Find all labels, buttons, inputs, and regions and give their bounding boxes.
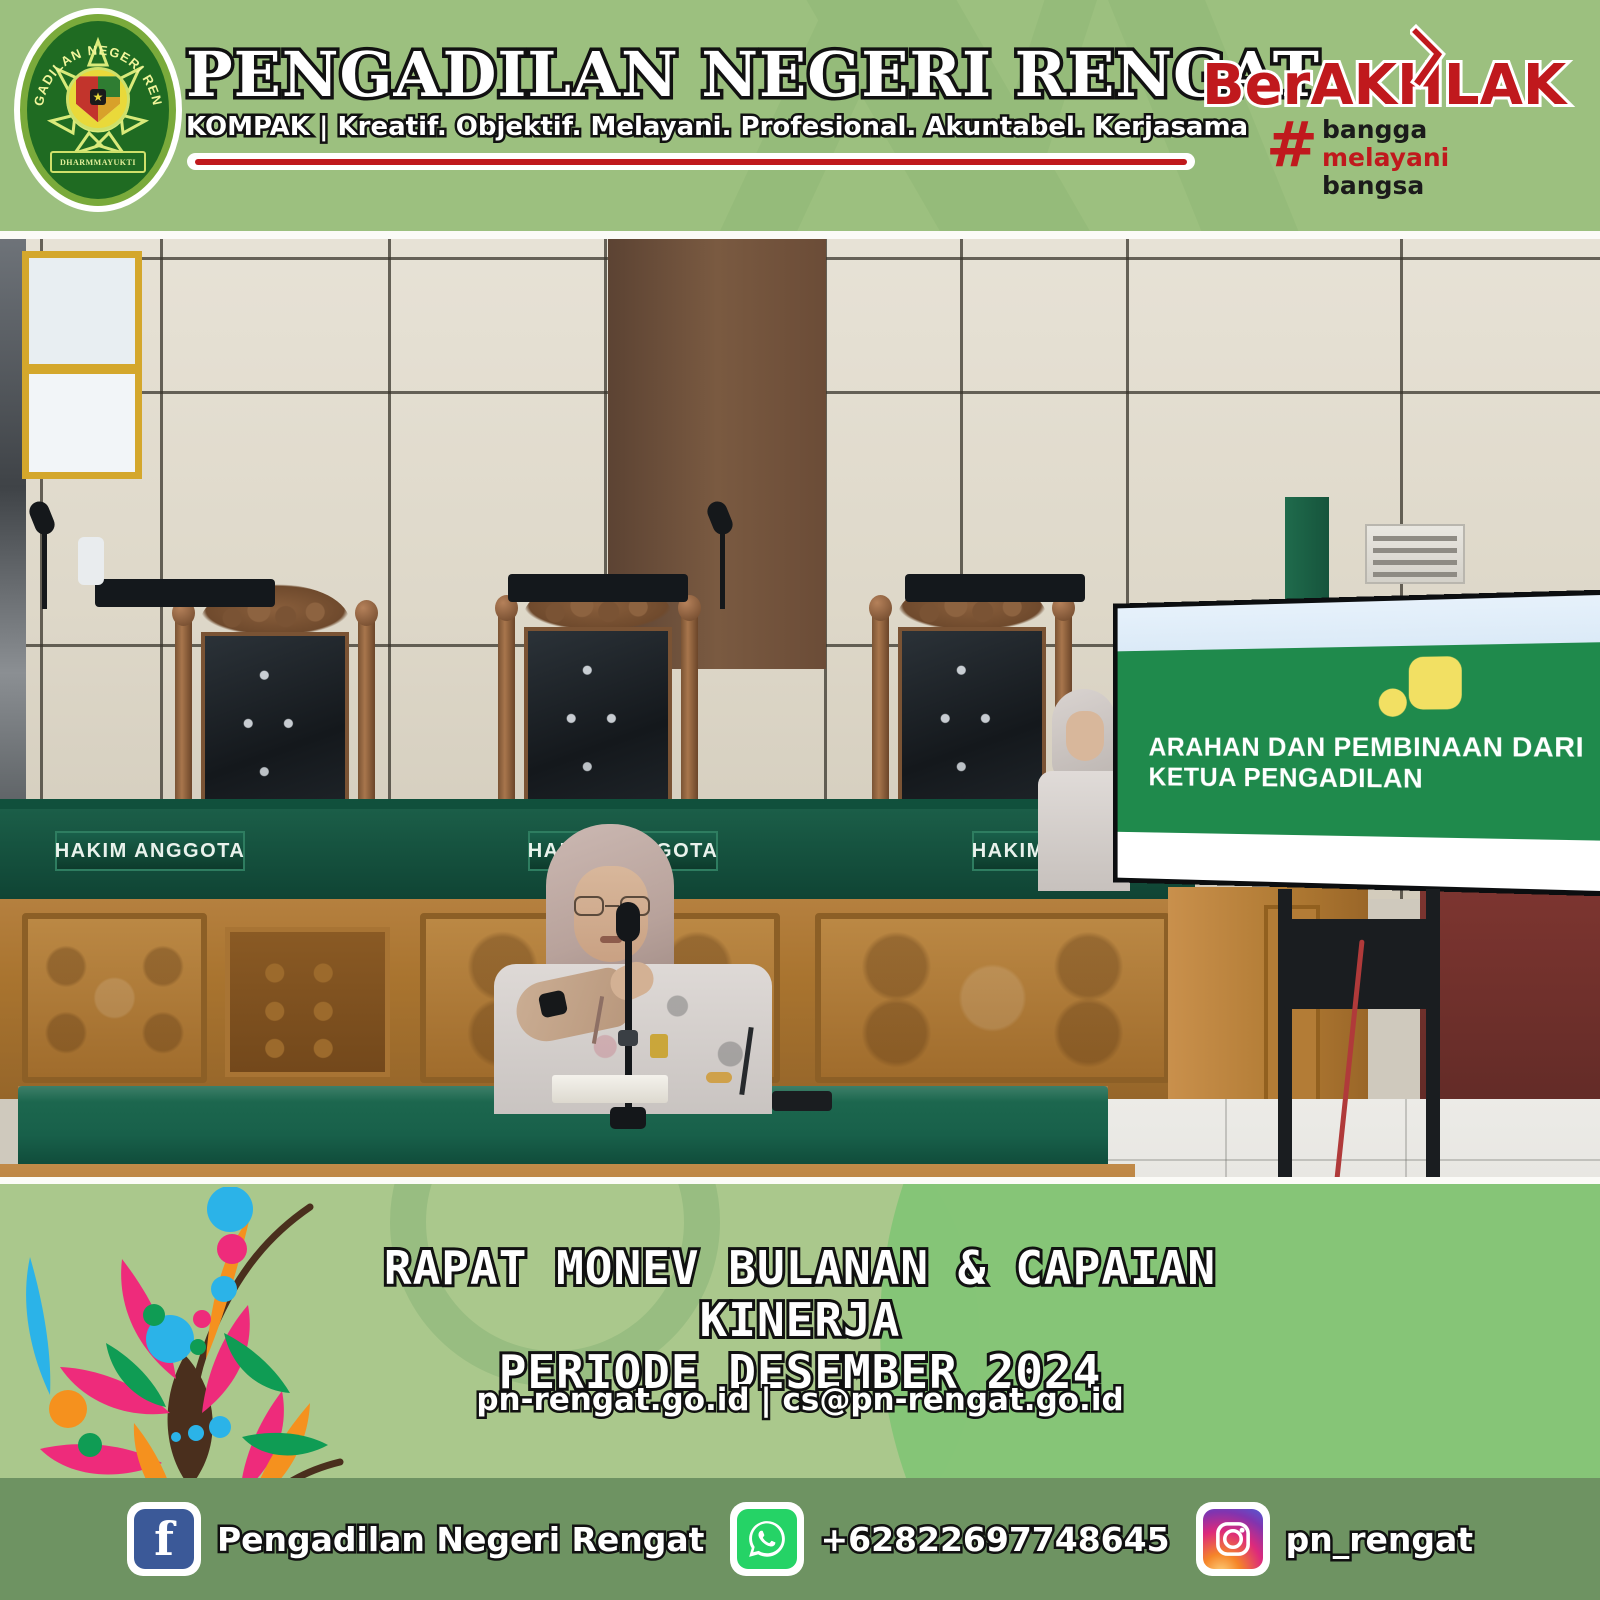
presenter-desk-carved-front (0, 1164, 1135, 1177)
footer-section: RAPAT MONEV BULANAN & CAPAIAN KINERJA PE… (0, 1177, 1600, 1600)
berakhlak-line-3: bangsa (1322, 172, 1449, 200)
contact-line: pn-rengat.go.id | cs@pn-rengat.go.id (300, 1382, 1300, 1418)
whatsapp-icon[interactable] (730, 1502, 804, 1576)
banner-header: PENGADILAN NEGERI RENGAT ★ DHARMMAYUKTI (0, 0, 1600, 231)
slide-title-line-1: ARAHAN DAN PEMBINAAN DARI (1149, 731, 1586, 763)
event-title: RAPAT MONEV BULANAN & CAPAIAN KINERJA PE… (300, 1242, 1300, 1398)
wall-picture-frame-2 (22, 367, 142, 479)
nameplate-left-label: HAKIM ANGGOTA (55, 840, 246, 863)
mobile-phone (772, 1091, 832, 1111)
page-title: PENGADILAN NEGERI RENGAT (186, 42, 1196, 108)
bench-monitor-left (95, 579, 275, 607)
air-conditioner-icon (1365, 524, 1465, 584)
berakhlak-wordmark: BerAKHLAK (1202, 58, 1566, 114)
event-title-line-1: RAPAT MONEV BULANAN & CAPAIAN KINERJA (300, 1242, 1300, 1346)
berakhlak-hash: # (1266, 114, 1318, 176)
id-badge (650, 1034, 668, 1058)
court-emblem-icon: PENGADILAN NEGERI RENGAT ★ DHARMMAYUKTI (14, 8, 182, 212)
social-item-whatsapp[interactable]: +62822697748645 (730, 1502, 1169, 1576)
emblem-motto-label: DHARMMAYUKTI (60, 158, 136, 167)
bench-door-panel (225, 927, 390, 1077)
emblem-shield-wrap: ★ (66, 67, 130, 131)
berakhlak-arrow-icon (1410, 24, 1450, 90)
berakhlak-line-2: melayani (1322, 144, 1449, 172)
bench-monitor-right (905, 574, 1085, 602)
hand-sanitizer-bottle (78, 537, 104, 585)
header-divider (187, 153, 1195, 170)
wall-picture-frame-1 (22, 251, 142, 371)
header-tagline: KOMPAK | Kreatif. Objektif. Melayani. Pr… (186, 111, 1196, 143)
berakhlak-tagline: bangga melayani bangsa (1322, 116, 1449, 200)
instagram-label: pn_rengat (1286, 1520, 1473, 1559)
header-photo-separator (0, 231, 1600, 239)
social-item-instagram[interactable]: pn_rengat (1196, 1502, 1473, 1576)
bench-monitor-center (508, 574, 688, 602)
social-links-bar: f Pengadilan Negeri Rengat +628226977486… (0, 1478, 1600, 1600)
social-item-facebook[interactable]: f Pengadilan Negeri Rengat (127, 1502, 704, 1576)
presentation-screen: ARAHAN DAN PEMBINAAN DARI KETUA PENGADIL… (1113, 590, 1600, 897)
facebook-icon[interactable]: f (127, 1502, 201, 1576)
facebook-label: Pengadilan Negeri Rengat (217, 1520, 704, 1559)
berakhlak-logo: BerAKHLAK # bangga melayani bangsa (1196, 18, 1456, 208)
header-title-block: PENGADILAN NEGERI RENGAT KOMPAK | Kreati… (186, 42, 1196, 170)
whatsapp-label: +62822697748645 (820, 1520, 1169, 1559)
courtroom-photo: HAKIM ANGGOTA HAKIM ANGGOTA HAKIM ANGGOT… (0, 239, 1600, 1177)
open-notebook (552, 1075, 668, 1103)
slide-title: ARAHAN DAN PEMBINAAN DARI KETUA PENGADIL… (1149, 731, 1586, 796)
tv-trolley-stand (1278, 889, 1498, 1177)
footer-top-separator (0, 1177, 1600, 1184)
berakhlak-line-1: bangga (1322, 116, 1449, 144)
instagram-icon[interactable] (1196, 1502, 1270, 1576)
slide-title-line-2: KETUA PENGADILAN (1149, 762, 1586, 796)
emblem-motto-banner: DHARMMAYUKTI (50, 151, 146, 173)
nameplate-left: HAKIM ANGGOTA (55, 831, 245, 871)
slide-yellow-square (1408, 657, 1461, 710)
